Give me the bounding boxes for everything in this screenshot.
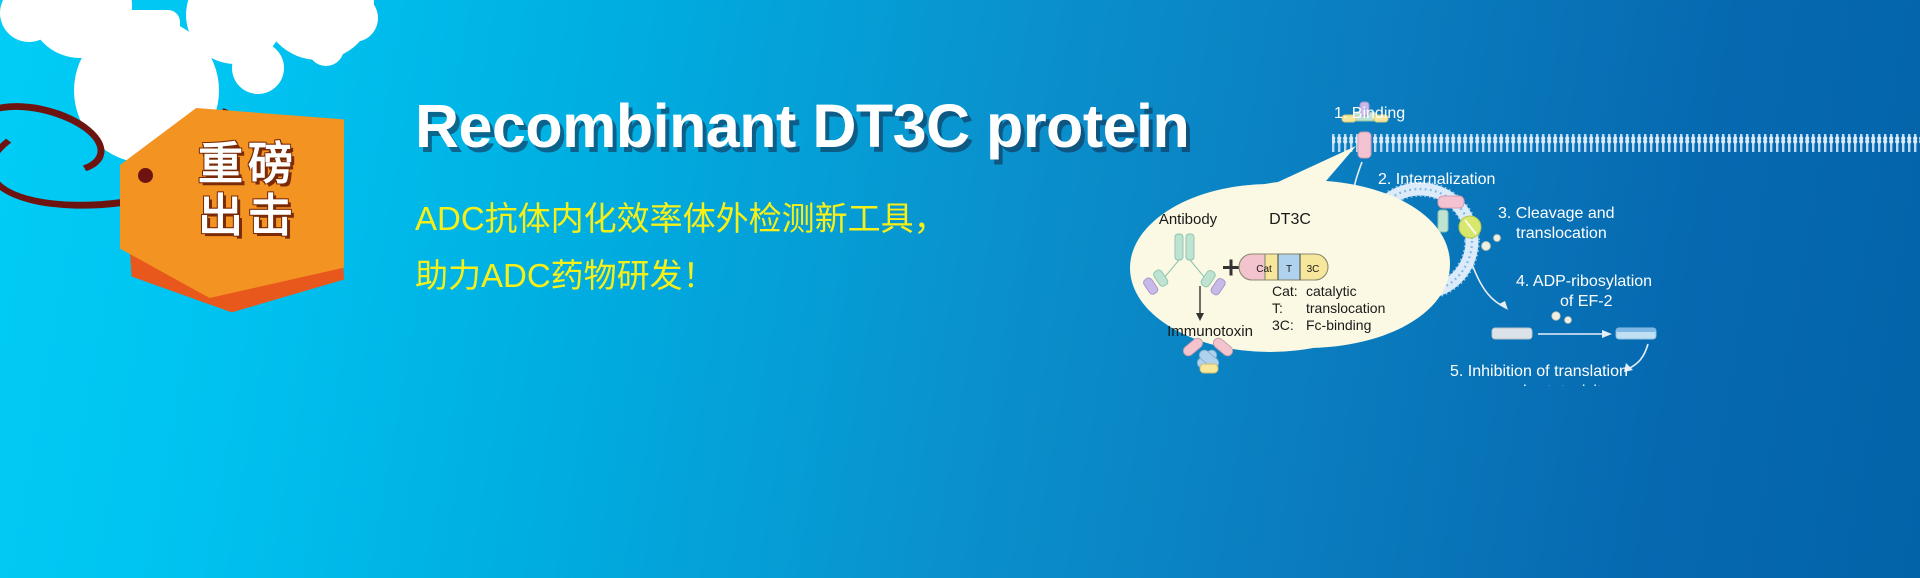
promo-banner: 重磅 出击 Recombinant DT3C protein ADC抗体内化效率… (0, 0, 1920, 578)
subtitle-line-2: 助力ADC药物研发！ (415, 248, 1135, 305)
subtitle-line-1: ADC抗体内化效率体外检测新工具， (415, 191, 1135, 248)
step-2-label: 2. Internalization (1378, 171, 1495, 188)
step-5-label-cont: and cytotoxicity (1500, 383, 1609, 386)
ef2-reaction-icon (1492, 312, 1656, 339)
subtitle-block: ADC抗体内化效率体外检测新工具， 助力ADC药物研发！ (415, 191, 1135, 305)
antibody-label: Antibody (1159, 211, 1218, 228)
legend-3c-key: 3C: (1272, 317, 1294, 333)
capsule-t-label: T (1286, 264, 1292, 275)
mechanism-figure: Antibody DT3C Cat T 3C Immunotoxin Cat: … (1120, 86, 1920, 386)
legend-cat-value: catalytic (1306, 283, 1357, 299)
page-title: Recombinant DT3C protein (415, 96, 1135, 157)
legend-cat-key: Cat: (1272, 283, 1298, 299)
step-3-label: 3. Cleavage and (1498, 205, 1615, 222)
legend-3c-value: Fc-binding (1306, 317, 1371, 333)
bubble-small-4 (330, 0, 378, 42)
promo-tag: 重磅 出击 (0, 96, 420, 346)
step-1-label: 1. Binding (1334, 105, 1405, 122)
bubble-small-2 (232, 42, 284, 94)
step-4-label: 4. ADP-ribosylation (1516, 273, 1652, 290)
capsule-3c-label: 3C (1307, 264, 1320, 275)
dt3c-label: DT3C (1269, 211, 1311, 228)
legend-t-value: translocation (1306, 300, 1385, 316)
immunotoxin-label: Immunotoxin (1167, 323, 1253, 340)
bubble-link-1 (120, 10, 180, 52)
translocation-arrow-icon (1472, 264, 1508, 310)
capsule-cat-label: Cat (1256, 264, 1272, 275)
step-5-label: 5. Inhibition of translation (1450, 363, 1628, 380)
headline-block: Recombinant DT3C protein ADC抗体内化效率体外检测新工… (415, 96, 1135, 305)
tag-text: 重磅 出击 (158, 138, 338, 242)
step-4-label-cont: of EF-2 (1560, 293, 1613, 310)
cell-membrane-icon (1332, 134, 1920, 152)
bubble-link-2 (238, 0, 290, 32)
step-3-label-cont: translocation (1516, 225, 1607, 242)
tag-text-line2: 出击 (158, 190, 338, 242)
tag-text-line1: 重磅 (158, 138, 338, 190)
tag-eyelet-icon (138, 168, 153, 183)
legend-t-key: T: (1272, 300, 1283, 316)
